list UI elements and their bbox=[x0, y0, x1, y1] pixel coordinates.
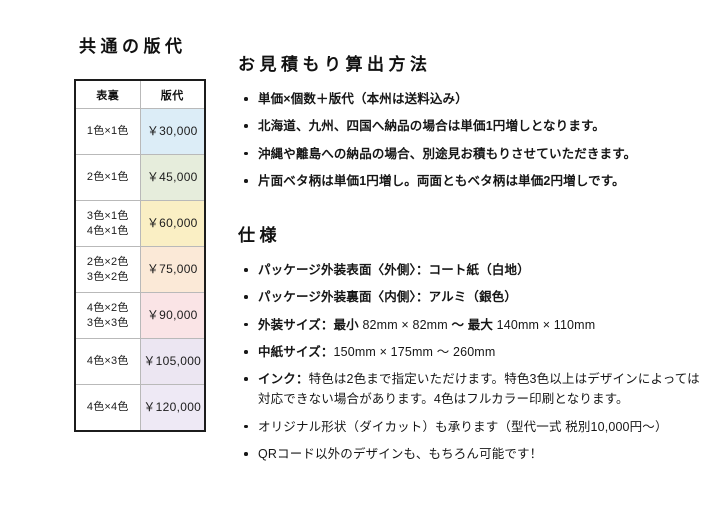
combo-line: 4色×3色 bbox=[76, 354, 140, 369]
estimate-list-item: 単価×個数＋版代（本州は送料込み） bbox=[238, 89, 708, 109]
combo-line: 4色×4色 bbox=[76, 400, 140, 415]
estimate-bullet-list: 単価×個数＋版代（本州は送料込み）北海道、九州、四国へ納品の場合は単価1円増しと… bbox=[238, 89, 708, 191]
cell-color-combination: 3色×1色4色×1色 bbox=[75, 201, 140, 247]
price-table: 表裏 版代 1色×1色￥30,0002色×1色￥45,0003色×1色4色×1色… bbox=[74, 79, 206, 432]
page-title-common-plate-fee: 共通の版代 bbox=[79, 32, 222, 57]
cell-plate-fee: ￥60,000 bbox=[140, 201, 205, 247]
bullet-text: 特色は2色まで指定いただけます。特色3色以上はデザインによっては対応できない場合… bbox=[258, 372, 700, 406]
cell-plate-fee: ￥30,000 bbox=[140, 109, 205, 155]
bullet-text: 140mm × 110mm bbox=[497, 318, 596, 332]
bullet-text: QRコード以外のデザインも、もちろん可能です！ bbox=[258, 447, 542, 461]
common-plate-fee-section: 共通の版代 bbox=[57, 32, 222, 57]
table-header-row: 表裏 版代 bbox=[75, 80, 205, 109]
cell-color-combination: 2色×2色3色×2色 bbox=[75, 247, 140, 293]
cell-color-combination: 1色×1色 bbox=[75, 109, 140, 155]
cell-plate-fee: ￥45,000 bbox=[140, 155, 205, 201]
bullet-text-emphasis: ～ 最大 bbox=[451, 318, 496, 332]
bullet-text-emphasis: 北海道、九州、四国へ納品の場合は単価1円増しとなります。 bbox=[258, 119, 605, 133]
bullet-text-emphasis: 単価×個数＋版代（本州は送料込み） bbox=[258, 92, 468, 106]
combo-line: 3色×1色 bbox=[76, 209, 140, 224]
table-row: 4色×2色3色×3色￥90,000 bbox=[75, 293, 205, 339]
estimate-list-item: 沖縄や離島への納品の場合、別途見お積もりさせていただきます。 bbox=[238, 144, 708, 164]
specification-list-item: 中紙サイズ：150mm × 175mm ～ 260mm bbox=[238, 342, 708, 362]
cell-color-combination: 2色×1色 bbox=[75, 155, 140, 201]
combo-line: 4色×2色 bbox=[76, 301, 140, 316]
cell-color-combination: 4色×3色 bbox=[75, 339, 140, 385]
cell-plate-fee: ￥105,000 bbox=[140, 339, 205, 385]
combo-line: 2色×2色 bbox=[76, 255, 140, 270]
specification-list-item: オリジナル形状（ダイカット）も承ります（型代一式 税別10,000円～） bbox=[238, 417, 708, 437]
table-row: 2色×2色3色×2色￥75,000 bbox=[75, 247, 205, 293]
combo-line: 4色×1色 bbox=[76, 224, 140, 239]
table-row: 2色×1色￥45,000 bbox=[75, 155, 205, 201]
specification-list-item: 外装サイズ：最小 82mm × 82mm ～ 最大 140mm × 110mm bbox=[238, 315, 708, 335]
bullet-text-emphasis: パッケージ外装表面〈外側〉：コート紙（白地） bbox=[258, 263, 530, 277]
estimate-list-item: 北海道、九州、四国へ納品の場合は単価1円増しとなります。 bbox=[238, 116, 708, 136]
specification-list-item: QRコード以外のデザインも、もちろん可能です！ bbox=[238, 444, 708, 464]
combo-line: 1色×1色 bbox=[76, 124, 140, 139]
specification-section: 仕様 パッケージ外装表面〈外側〉：コート紙（白地）パッケージ外装裏面〈内側〉：ア… bbox=[238, 207, 708, 471]
table-row: 4色×3色￥105,000 bbox=[75, 339, 205, 385]
estimate-method-section: お見積もり算出方法 単価×個数＋版代（本州は送料込み）北海道、九州、四国へ納品の… bbox=[238, 36, 708, 198]
specification-bullet-list: パッケージ外装表面〈外側〉：コート紙（白地）パッケージ外装裏面〈内側〉：アルミ（… bbox=[238, 260, 708, 464]
bullet-text-emphasis: パッケージ外装裏面〈内側〉：アルミ（銀色） bbox=[258, 290, 517, 304]
specification-list-item: インク：特色は2色まで指定いただけます。特色3色以上はデザインによっては対応でき… bbox=[238, 369, 708, 410]
estimate-list-item: 片面ベタ柄は単価1円増し。両面ともベタ柄は単価2円増しです。 bbox=[238, 171, 708, 191]
bullet-text: オリジナル形状（ダイカット）も承ります（型代一式 税別10,000円～） bbox=[258, 420, 668, 434]
combo-line: 2色×1色 bbox=[76, 170, 140, 185]
combo-line: 3色×2色 bbox=[76, 270, 140, 285]
bullet-text-emphasis: 中紙サイズ： bbox=[258, 345, 334, 359]
section-title-estimate-method: お見積もり算出方法 bbox=[238, 50, 708, 75]
cell-plate-fee: ￥120,000 bbox=[140, 385, 205, 432]
specification-list-item: パッケージ外装表面〈外側〉：コート紙（白地） bbox=[238, 260, 708, 280]
price-table-head: 表裏 版代 bbox=[75, 80, 205, 109]
cell-color-combination: 4色×2色3色×3色 bbox=[75, 293, 140, 339]
table-row: 1色×1色￥30,000 bbox=[75, 109, 205, 155]
section-title-specification: 仕様 bbox=[238, 221, 708, 246]
bullet-text: 82mm × 82mm bbox=[362, 318, 451, 332]
table-row: 3色×1色4色×1色￥60,000 bbox=[75, 201, 205, 247]
cell-plate-fee: ￥90,000 bbox=[140, 293, 205, 339]
column-header-plate-fee: 版代 bbox=[140, 80, 205, 109]
cell-plate-fee: ￥75,000 bbox=[140, 247, 205, 293]
bullet-text: 150mm × 175mm ～ 260mm bbox=[334, 345, 496, 359]
bullet-text-emphasis: インク： bbox=[258, 372, 309, 386]
bullet-text-emphasis: 片面ベタ柄は単価1円増し。両面ともベタ柄は単価2円増しです。 bbox=[258, 174, 625, 188]
specification-list-item: パッケージ外装裏面〈内側〉：アルミ（銀色） bbox=[238, 287, 708, 307]
bullet-text-emphasis: 外装サイズ：最小 bbox=[258, 318, 362, 332]
table-row: 4色×4色￥120,000 bbox=[75, 385, 205, 432]
price-table-body: 1色×1色￥30,0002色×1色￥45,0003色×1色4色×1色￥60,00… bbox=[75, 109, 205, 432]
cell-color-combination: 4色×4色 bbox=[75, 385, 140, 432]
column-header-sides: 表裏 bbox=[75, 80, 140, 109]
document-page: 共通の版代 表裏 版代 1色×1色￥30,0002色×1色￥45,0003色×1… bbox=[0, 0, 720, 509]
combo-line: 3色×3色 bbox=[76, 316, 140, 331]
bullet-text-emphasis: 沖縄や離島への納品の場合、別途見お積もりさせていただきます。 bbox=[258, 147, 636, 161]
